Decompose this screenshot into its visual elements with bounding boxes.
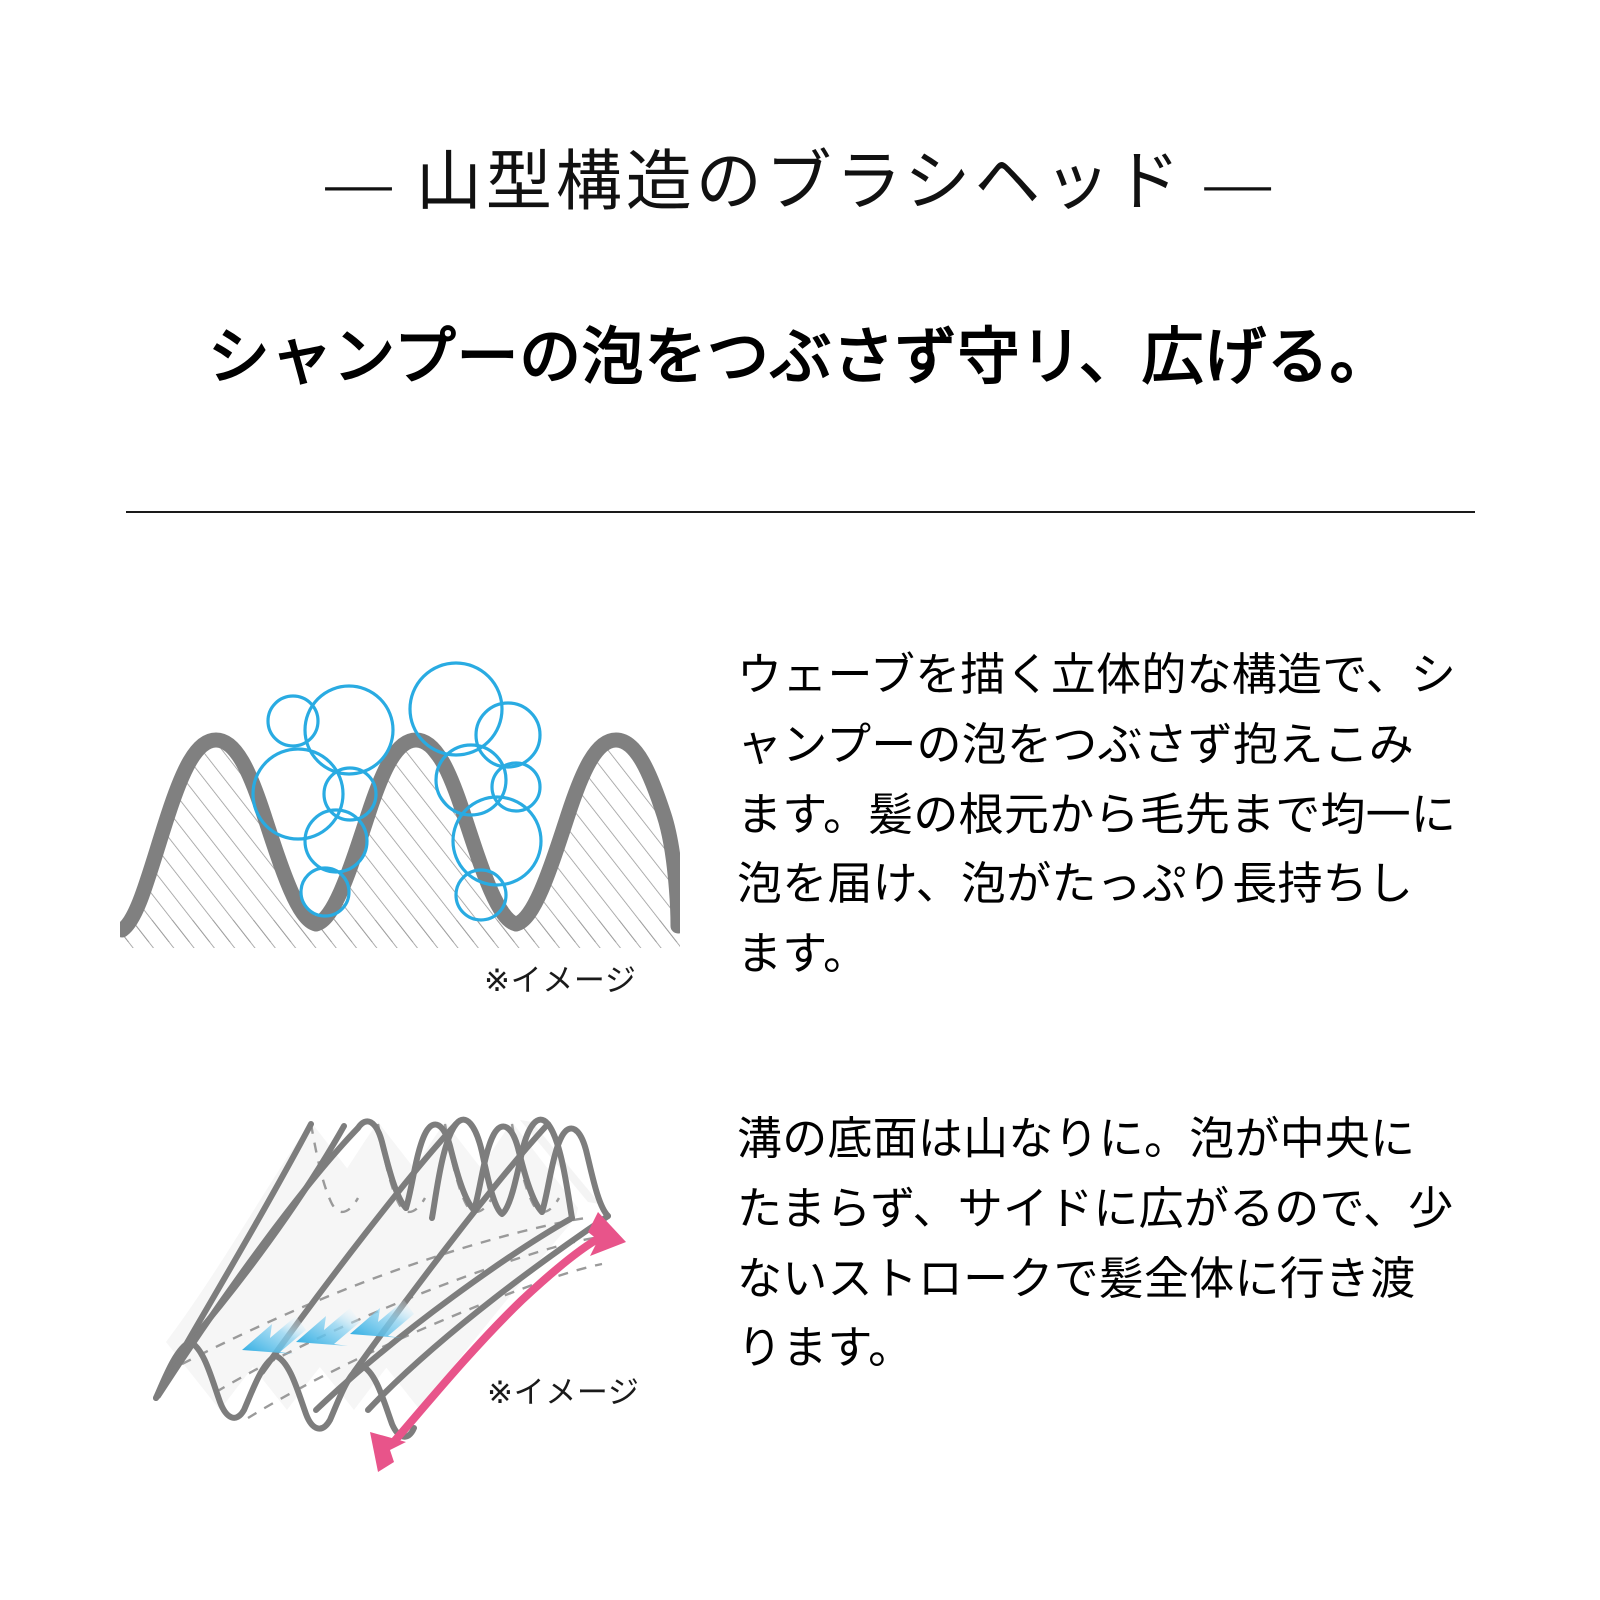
wave-cross-section-diagram (120, 620, 680, 960)
accordion-perspective-diagram (120, 1080, 680, 1480)
accordion-diagram-svg (120, 1080, 680, 1480)
wave-diagram-svg (120, 620, 680, 960)
hatch-baseline (120, 920, 680, 948)
section-groove-base: 溝の底面は山なりに。泡が中央にたまらず、サイドに広がるので、少ないストロークで髪… (0, 1080, 1600, 1480)
bubble (268, 696, 318, 746)
bubble (492, 763, 540, 811)
figure-2-caption: ※イメージ (487, 1367, 639, 1412)
page-title: ― 山型構造のブラシヘッド ― (0, 128, 1600, 224)
groove-base-body: 溝の底面は山なりに。泡が中央にたまらず、サイドに広がるので、少ないストロークで髪… (737, 1104, 1457, 1383)
page-subtitle: シャンプーの泡をつぶさず守リ、広げる。 (0, 306, 1600, 396)
infographic-page: ― 山型構造のブラシヘッド ― シャンプーの泡をつぶさず守リ、広げる。 (0, 0, 1600, 1600)
figure-1-caption: ※イメージ (484, 955, 636, 1000)
section-wave-structure: ウェーブを描く立体的な構造で、シャンプーの泡をつぶさず抱えこみます。髪の根元から… (0, 620, 1600, 1040)
bubble (305, 686, 393, 774)
wave-structure-body: ウェーブを描く立体的な構造で、シャンプーの泡をつぶさず抱えこみます。髪の根元から… (737, 640, 1457, 989)
bubble (253, 749, 343, 839)
bubble (476, 703, 540, 767)
header-divider (126, 511, 1475, 513)
